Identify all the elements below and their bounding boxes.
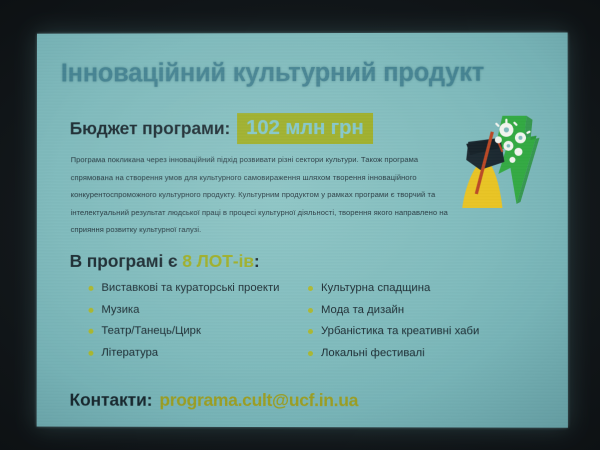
bullet-dot-icon (308, 329, 313, 334)
list-item-label: Музика (101, 302, 139, 317)
budget-label: Бюджет програми: (70, 118, 231, 139)
list-item: Мода та дизайн (308, 303, 524, 318)
list-item: Урбаністика та креативні хаби (308, 324, 524, 339)
graduate-with-torch-and-gears-icon (440, 108, 550, 213)
contacts-label: Контакти: (69, 390, 152, 411)
bullet-dot-icon (308, 308, 313, 313)
list-item-label: Література (101, 345, 158, 360)
list-item: Культурна спадщина (308, 281, 524, 296)
contact-email-address: programa.cult@ucf.in.ua (159, 390, 358, 411)
list-item: Театр/Танець/Цирк (88, 324, 303, 339)
lots-heading: В програмі є 8 ЛОТ-ів: (70, 251, 260, 272)
lots-heading-highlight: 8 ЛОТ-ів (182, 251, 254, 271)
lots-heading-suffix: : (254, 251, 260, 271)
list-item-label: Урбаністика та креативні хаби (321, 324, 479, 339)
list-item-label: Мода та дизайн (321, 303, 404, 318)
lots-heading-prefix: В програмі є (70, 251, 183, 271)
bullet-dot-icon (88, 329, 93, 334)
contacts-row: Контакти: programa.cult@ucf.in.ua (69, 390, 358, 412)
page-title: Інноваційний культурний продукт (61, 59, 561, 89)
list-item-label: Культурна спадщина (321, 281, 430, 296)
presentation-slide: Інноваційний культурний продукт Бюджет п… (37, 33, 568, 428)
program-description-paragraph: Програма покликана через інноваційний пі… (71, 151, 452, 239)
bullet-dot-icon (88, 350, 93, 355)
list-item: Локальні фестивалі (308, 346, 524, 361)
list-item: Музика (88, 302, 303, 317)
lots-column-left: Виставкові та кураторські проекти Музика… (88, 281, 303, 367)
lots-column-right: Культурна спадщина Мода та дизайн Урбані… (308, 281, 524, 367)
budget-amount-badge: 102 млн грн (237, 113, 372, 144)
list-item: Виставкові та кураторські проекти (88, 281, 303, 296)
list-item-label: Виставкові та кураторські проекти (101, 281, 279, 296)
list-item-label: Локальні фестивалі (321, 346, 425, 361)
bullet-dot-icon (88, 307, 93, 312)
slide-content: Інноваційний культурний продукт Бюджет п… (37, 33, 568, 428)
list-item-label: Театр/Танець/Цирк (101, 324, 200, 339)
bullet-dot-icon (308, 286, 313, 291)
bullet-dot-icon (308, 351, 313, 356)
list-item: Література (88, 345, 303, 360)
budget-row: Бюджет програми: 102 млн грн (70, 113, 373, 144)
bullet-dot-icon (88, 286, 93, 291)
